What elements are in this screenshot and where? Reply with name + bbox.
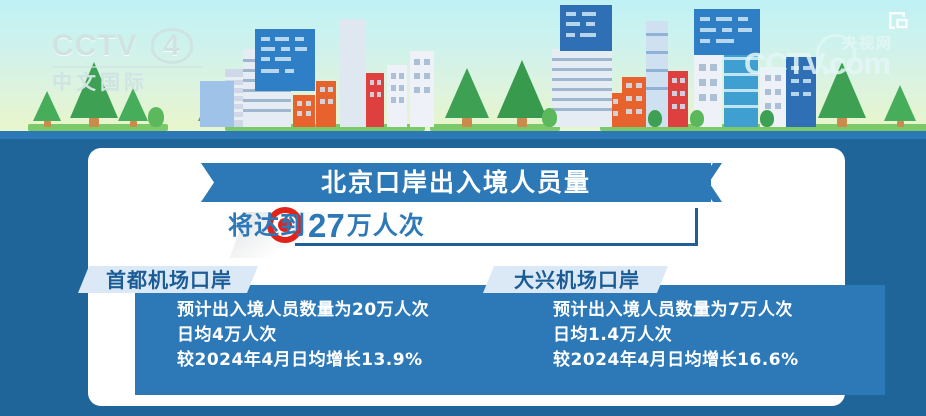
bush	[148, 107, 164, 127]
card-line: 日均4万人次	[177, 323, 516, 348]
logo-divider	[52, 66, 202, 68]
pine-tree	[497, 60, 547, 127]
bush	[690, 110, 704, 127]
page-title: 北京口岸出入境人员量	[201, 163, 711, 202]
infographic-card: 北京口岸出入境人员量 将达到 27 万人次 预计出入境人员数量为20万人次 日均…	[88, 148, 845, 406]
cctv4-logo-subtitle: 中文国际	[52, 72, 242, 92]
bush	[648, 110, 662, 127]
bush	[542, 108, 557, 127]
horizon-band	[0, 131, 926, 139]
subtitle-suffix: 万人次	[347, 213, 425, 238]
card-capital-airport: 预计出入境人员数量为20万人次 日均4万人次 较2024年4月日均增长13.9%	[135, 285, 516, 395]
card-line: 较2024年4月日均增长16.6%	[553, 348, 885, 373]
infographic-screenshot: CCTV 4 中文国际 央视网 CCTV.com 北京口岸出入境人员量 将达到 …	[0, 0, 926, 416]
bush	[760, 110, 774, 127]
building	[410, 51, 434, 127]
subtitle: 将达到 27 万人次	[228, 202, 425, 248]
building	[622, 77, 646, 127]
building	[316, 81, 336, 127]
cctv4-logo-text: CCTV	[52, 29, 138, 62]
card-header-label: 大兴机场口岸	[514, 270, 640, 290]
subtitle-prefix: 将达到	[228, 213, 306, 238]
card-header-capital-airport: 首都机场口岸	[78, 266, 258, 293]
building-tall	[255, 29, 315, 91]
cctv4-logo: CCTV 4 中文国际	[52, 28, 242, 84]
nested-squares-logo-icon	[886, 10, 910, 31]
cctv4-channel-number: 4	[151, 28, 193, 64]
building	[340, 19, 366, 127]
pine-tree	[33, 91, 61, 127]
watermark-en-text: CCTV.com	[744, 48, 890, 79]
card-header-daxing-airport: 大兴机场口岸	[483, 266, 668, 293]
subtitle-number: 27	[308, 209, 345, 242]
cctv-com-watermark: 央视网 CCTV.com	[744, 32, 914, 86]
building	[387, 65, 407, 127]
card-line: 预计出入境人员数量为7万人次	[553, 298, 885, 323]
card-header-label: 首都机场口岸	[106, 270, 232, 290]
pine-tree	[884, 85, 916, 127]
building	[293, 95, 315, 127]
card-body: 预计出入境人员数量为7万人次 日均1.4万人次 较2024年4月日均增长16.6…	[505, 285, 885, 395]
pine-tree	[445, 68, 489, 127]
card-line: 较2024年4月日均增长13.9%	[177, 348, 516, 373]
building-tall	[560, 5, 612, 51]
building	[366, 73, 384, 127]
card-line: 预计出入境人员数量为20万人次	[177, 298, 516, 323]
building	[552, 49, 612, 127]
building	[668, 71, 688, 127]
card-line: 日均1.4万人次	[553, 323, 885, 348]
card-body: 预计出入境人员数量为20万人次 日均4万人次 较2024年4月日均增长13.9%	[135, 285, 516, 395]
card-daxing-airport: 预计出入境人员数量为7万人次 日均1.4万人次 较2024年4月日均增长16.6…	[505, 285, 885, 395]
